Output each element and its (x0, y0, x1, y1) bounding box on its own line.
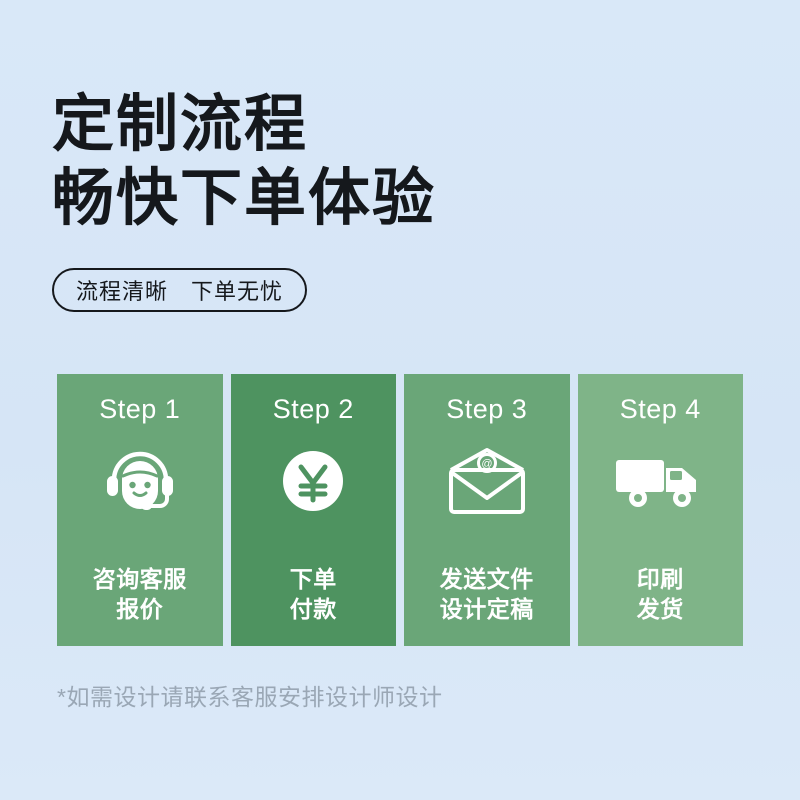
step-card-1: Step 1 咨询客服 报价 (57, 374, 223, 646)
steps-row: Step 1 咨询客服 报价 (57, 374, 743, 646)
step-4-label-line-1: 印刷 (578, 564, 744, 594)
step-card-4: Step 4 印刷 发货 (578, 374, 744, 646)
delivery-truck-icon (612, 443, 708, 519)
step-1-label-line-2: 报价 (57, 594, 223, 624)
subtitle-pill: 流程清晰 下单无忧 (52, 268, 307, 312)
step-4-title: Step 4 (620, 394, 701, 425)
poster-canvas: 定制流程 畅快下单体验 流程清晰 下单无忧 Step 1 (0, 0, 800, 800)
page-title: 定制流程 畅快下单体验 (52, 88, 436, 236)
footnote: *如需设计请联系客服安排设计师设计 (57, 678, 442, 712)
step-2-label-line-1: 下单 (231, 564, 397, 594)
subtitle-pill-label: 流程清晰 下单无忧 (76, 274, 283, 306)
step-2-label-line-2: 付款 (231, 594, 397, 624)
headset-support-icon (101, 443, 179, 519)
page-title-line-1: 定制流程 (52, 88, 436, 162)
step-1-label: 咨询客服 报价 (57, 564, 223, 624)
step-3-label-line-2: 设计定稿 (404, 594, 570, 624)
step-2-label: 下单 付款 (231, 564, 397, 624)
step-card-3: Step 3 @ 发送文件 设计定稿 (404, 374, 570, 646)
step-1-title: Step 1 (99, 394, 180, 425)
step-4-label: 印刷 发货 (578, 564, 744, 624)
step-3-title: Step 3 (446, 394, 527, 425)
step-4-label-line-2: 发货 (578, 594, 744, 624)
step-3-label: 发送文件 设计定稿 (404, 564, 570, 624)
step-3-label-line-1: 发送文件 (404, 564, 570, 594)
email-envelope-icon: @ (441, 443, 533, 519)
step-card-2: Step 2 下单 付款 (231, 374, 397, 646)
yen-currency-icon (277, 443, 349, 519)
page-title-line-2: 畅快下单体验 (52, 162, 436, 236)
step-1-label-line-1: 咨询客服 (57, 564, 223, 594)
step-2-title: Step 2 (273, 394, 354, 425)
